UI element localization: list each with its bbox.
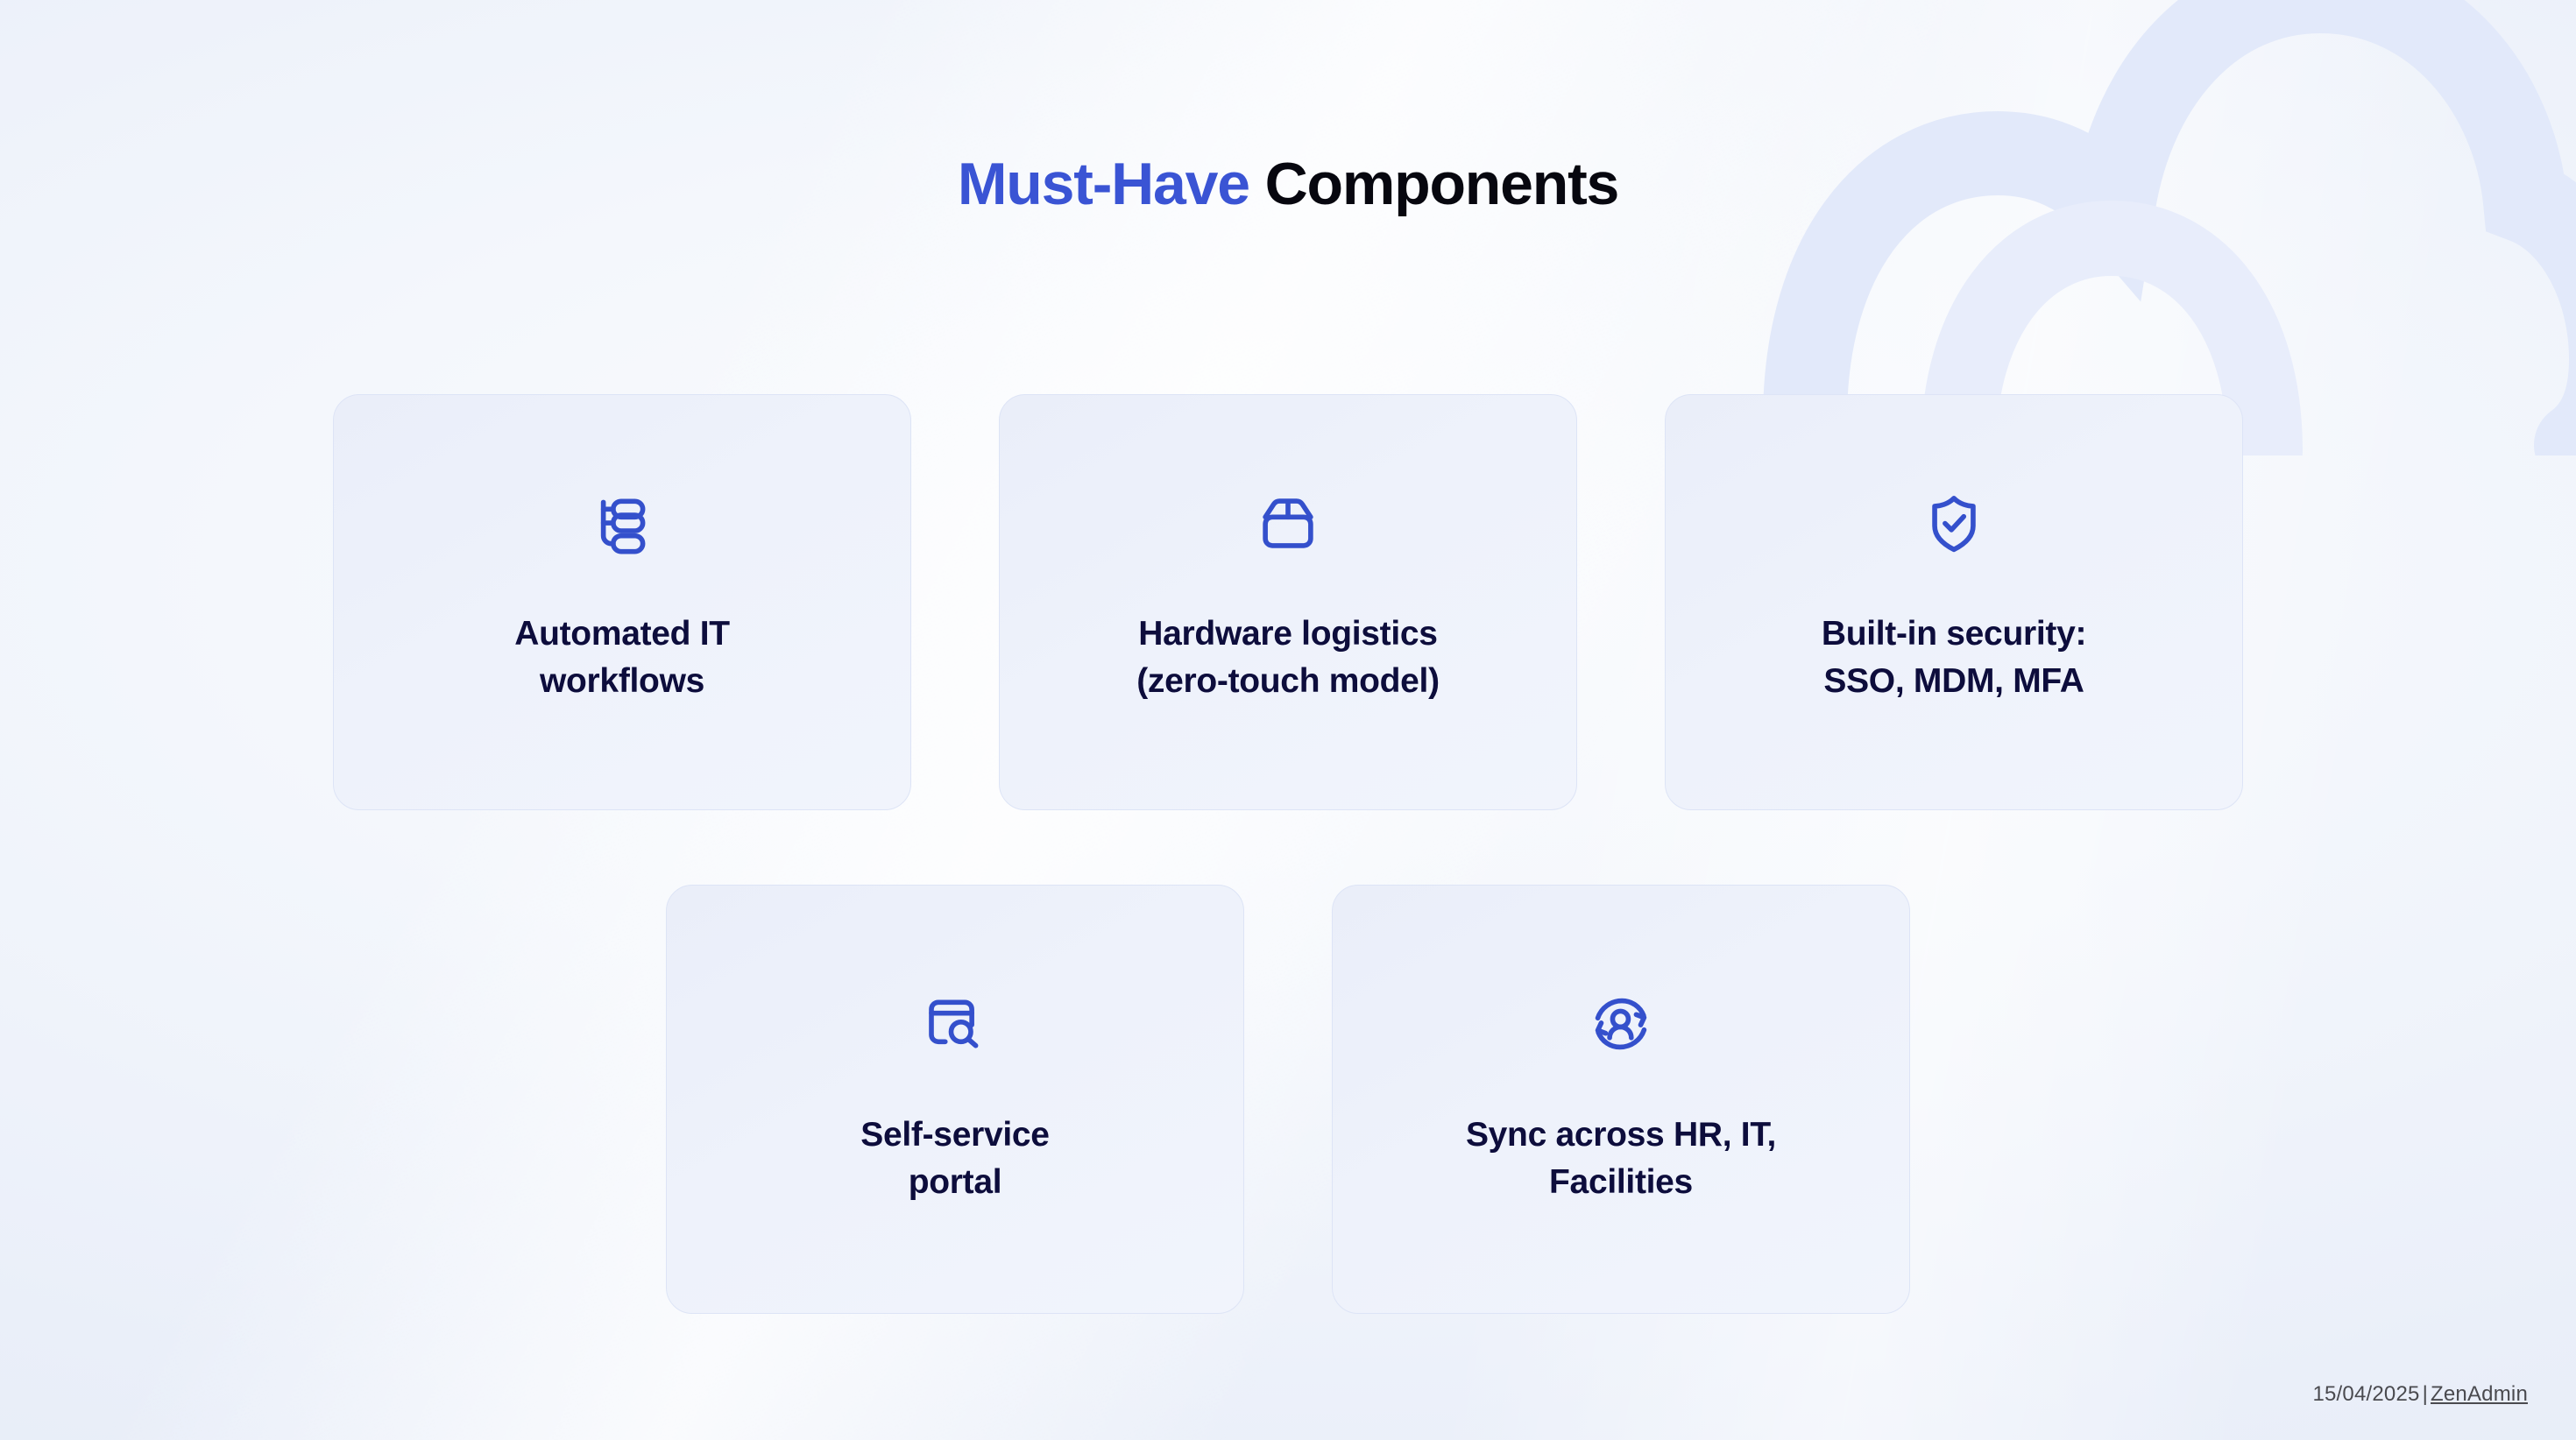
components-grid: Automated IT workflows Hardware logistic…: [0, 394, 2576, 1314]
components-row-top: Automated IT workflows Hardware logistic…: [333, 394, 2243, 810]
user-sync-icon: [1589, 992, 1652, 1055]
component-card-label: Self-service portal: [860, 1112, 1049, 1206]
title-accent: Must-Have: [958, 151, 1249, 217]
component-card-self-service-portal[interactable]: Self-service portal: [666, 885, 1244, 1314]
component-card-built-in-security[interactable]: Built-in security: SSO, MDM, MFA: [1665, 394, 2243, 810]
footer-separator: |: [2420, 1382, 2431, 1406]
footer-date: 15/04/2025: [2312, 1382, 2419, 1406]
components-row-bottom: Self-service portal Sync across HR, IT, …: [666, 885, 1910, 1314]
window-search-icon: [924, 992, 987, 1055]
footer-brand-link[interactable]: ZenAdmin: [2431, 1382, 2528, 1406]
package-box-icon: [1256, 491, 1320, 554]
component-card-automated-it-workflows[interactable]: Automated IT workflows: [333, 394, 911, 810]
component-card-label: Built-in security: SSO, MDM, MFA: [1822, 611, 2086, 705]
component-card-label: Sync across HR, IT, Facilities: [1466, 1112, 1776, 1206]
shield-check-icon: [1922, 491, 1985, 554]
component-card-label: Hardware logistics (zero-touch model): [1136, 611, 1440, 705]
component-card-label: Automated IT workflows: [514, 611, 730, 705]
component-card-sync-across-teams[interactable]: Sync across HR, IT, Facilities: [1332, 885, 1910, 1314]
workflow-icon: [591, 491, 654, 554]
page-title: Must-Have Components: [0, 154, 2576, 214]
title-plain: Components: [1249, 151, 1618, 217]
slide-footer: 15/04/2025|ZenAdmin: [2312, 1382, 2528, 1407]
component-card-hardware-logistics[interactable]: Hardware logistics (zero-touch model): [999, 394, 1577, 810]
cloud-outline-decoration: [1735, 0, 2576, 455]
